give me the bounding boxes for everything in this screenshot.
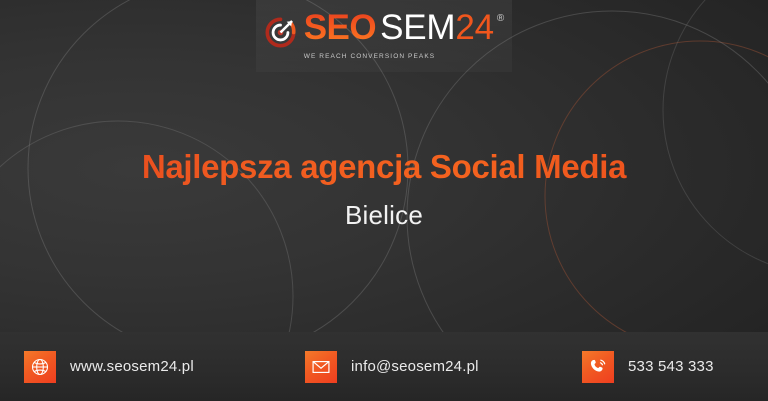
contact-website-label: www.seosem24.pl xyxy=(70,358,194,375)
logo-panel: SEO SEM 24 ® WE REACH CONVERSION PEAKS xyxy=(256,0,512,72)
contact-website[interactable]: www.seosem24.pl xyxy=(24,351,194,383)
phone-ringing-icon xyxy=(582,351,614,383)
logo-text-seo: SEO xyxy=(304,10,376,45)
contact-email-label: info@seosem24.pl xyxy=(351,358,479,375)
page-title: Najlepsza agencja Social Media xyxy=(0,148,768,186)
registered-trademark-icon: ® xyxy=(497,14,504,24)
envelope-icon xyxy=(305,351,337,383)
logo-text-24: 24 xyxy=(455,10,494,45)
contact-email[interactable]: info@seosem24.pl xyxy=(305,351,479,383)
contact-phone[interactable]: 533 543 333 xyxy=(582,351,714,383)
slide-canvas: SEO SEM 24 ® WE REACH CONVERSION PEAKS N… xyxy=(0,0,768,401)
logo-text-sem: SEM xyxy=(380,10,455,45)
contact-phone-label: 533 543 333 xyxy=(628,358,714,375)
target-dartboard-arrow-icon xyxy=(264,16,297,49)
logo-wordmark: SEO SEM 24 ® WE REACH CONVERSION PEAKS xyxy=(304,10,505,63)
contact-footer-bar: www.seosem24.pl info@seosem24.pl 533 543… xyxy=(0,332,768,401)
logo-tagline: WE REACH CONVERSION PEAKS xyxy=(304,53,462,60)
page-subtitle: Bielice xyxy=(0,200,768,231)
globe-icon xyxy=(24,351,56,383)
brand-logo: SEO SEM 24 ® WE REACH CONVERSION PEAKS xyxy=(264,10,505,63)
